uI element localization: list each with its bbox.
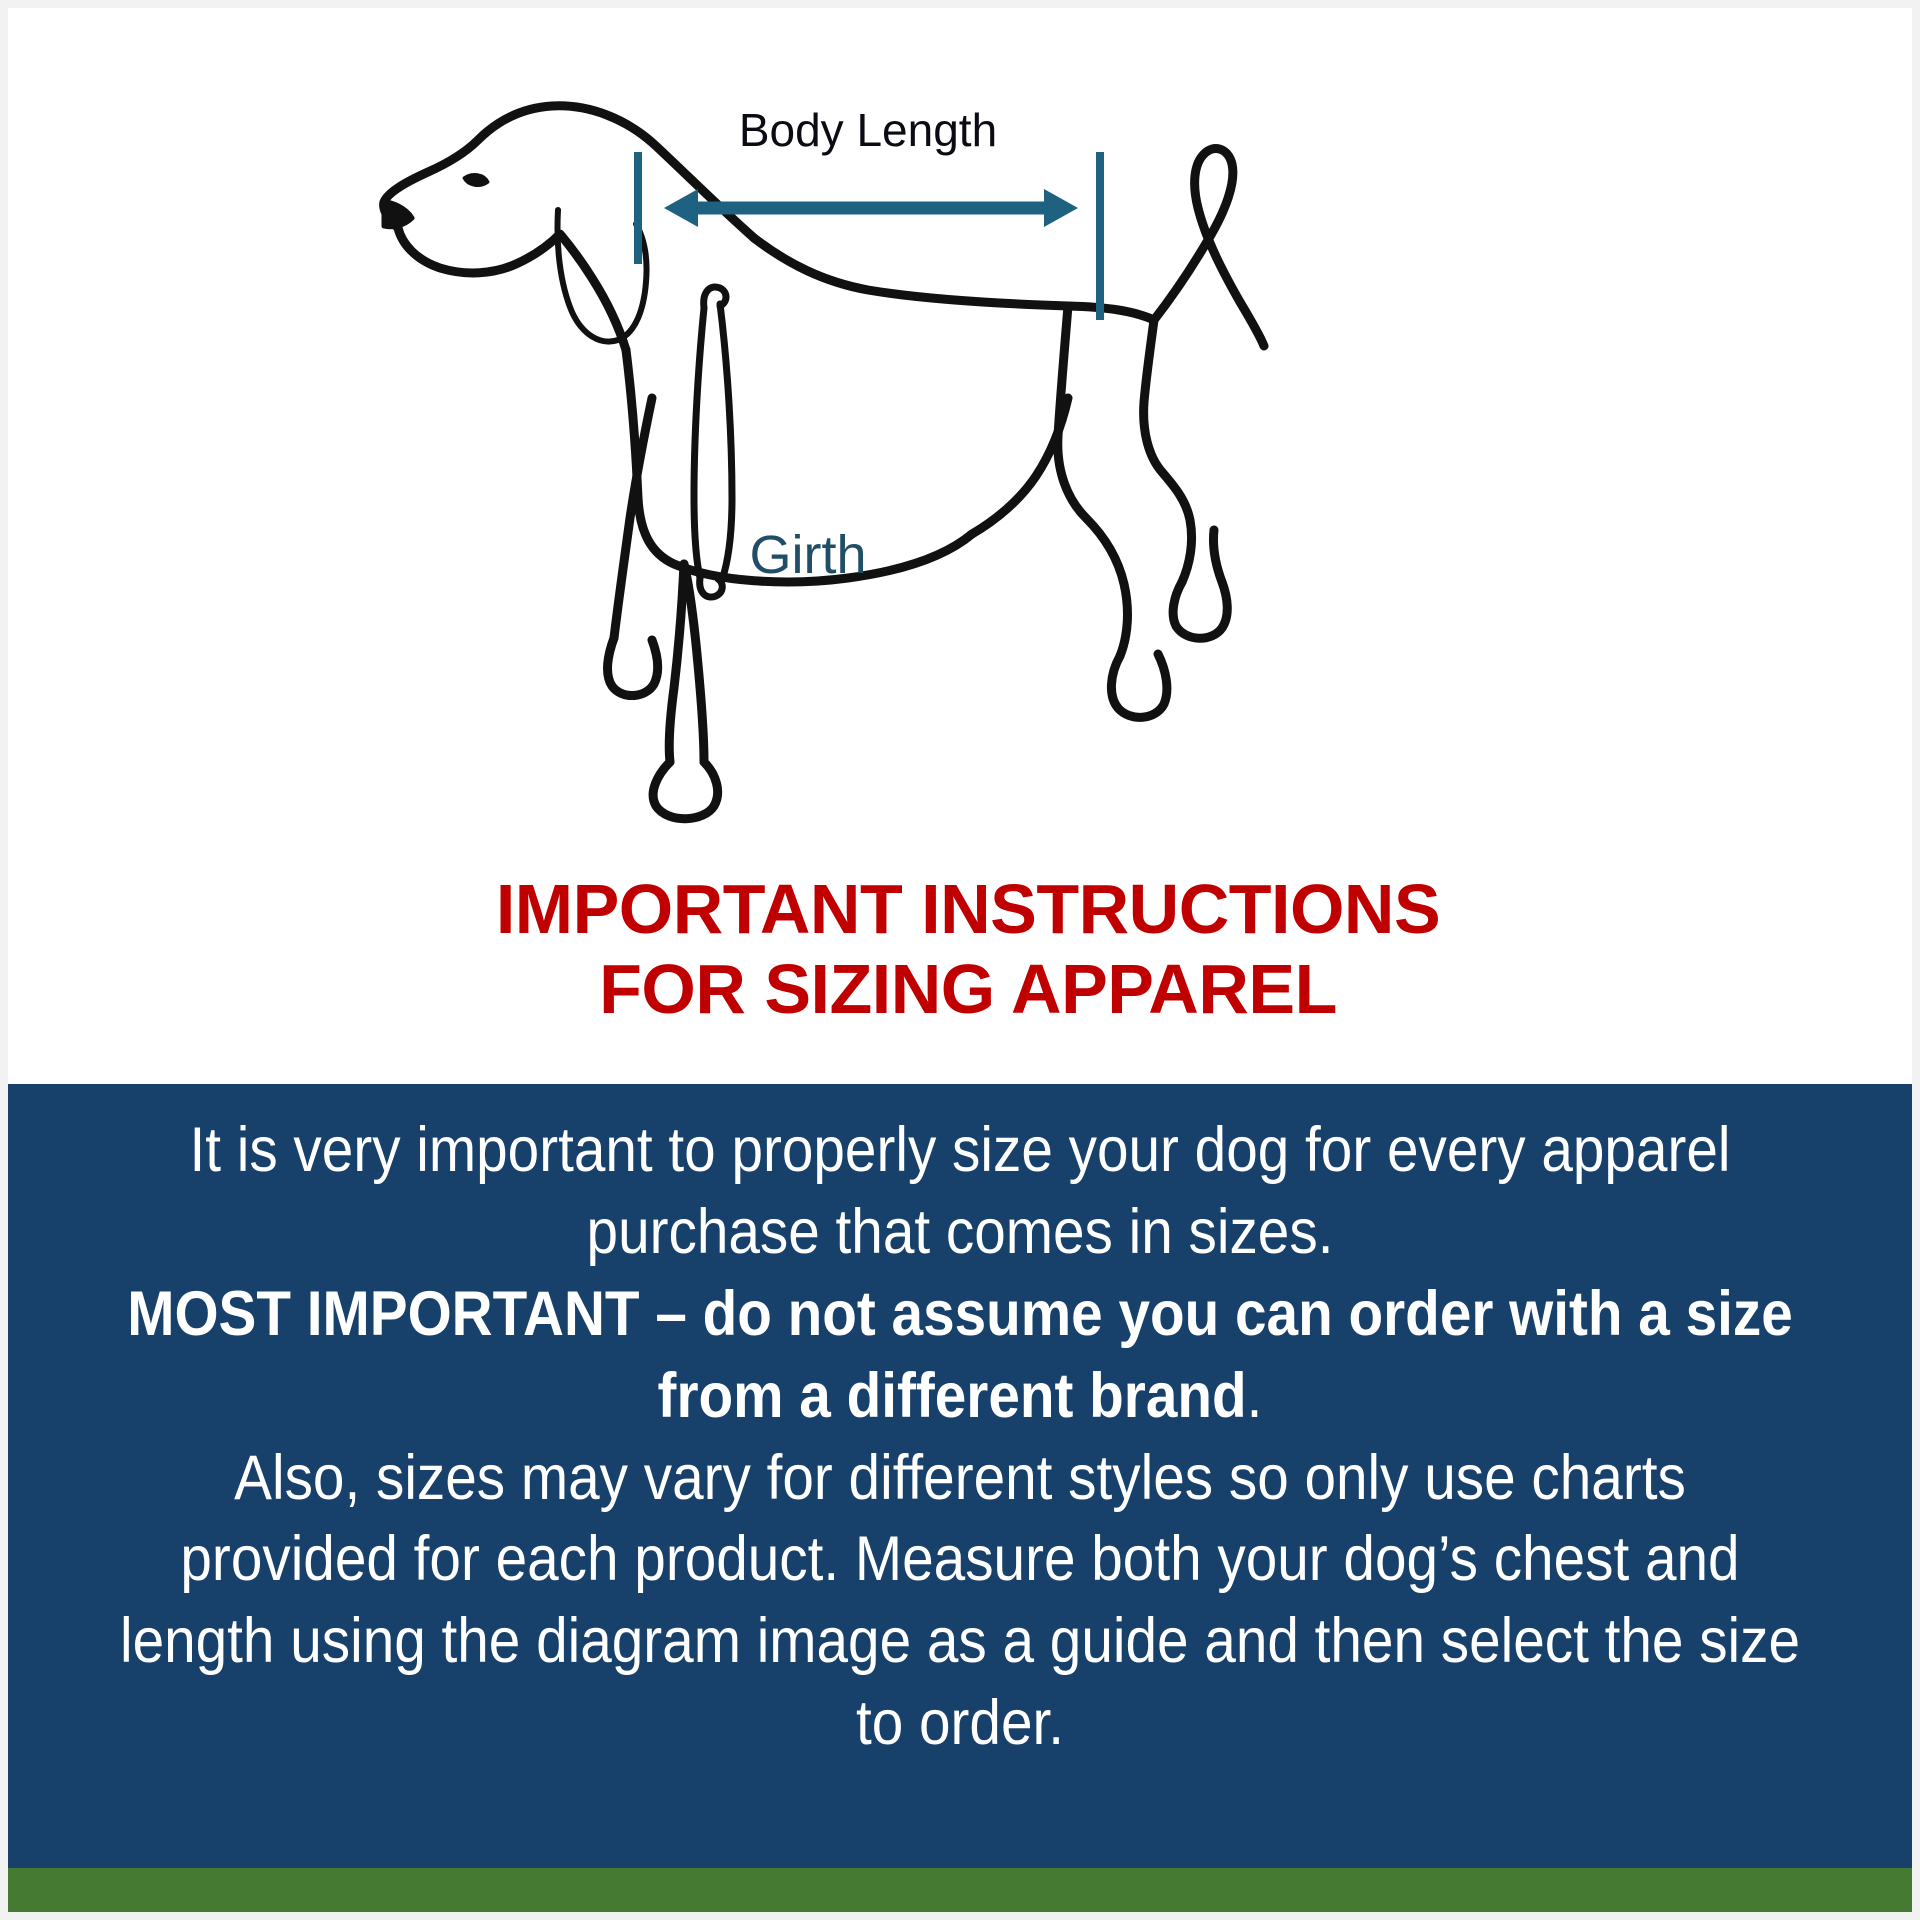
girth-label: Girth bbox=[749, 525, 866, 585]
arrow-right-head-icon bbox=[1044, 189, 1078, 227]
arrow-left-head-icon bbox=[664, 189, 698, 227]
page-title-line-2: FOR SIZING APPAREL bbox=[16, 950, 1920, 1030]
instructions-paragraph-1: It is very important to properly size yo… bbox=[119, 1110, 1800, 1274]
white-panel: Body Length Girth IMPORTANT INSTRUCTIONS… bbox=[8, 8, 1912, 1084]
body-length-label: Body Length bbox=[739, 104, 997, 156]
instructions-paragraph-3: Also, sizes may vary for different style… bbox=[119, 1438, 1800, 1766]
instructions-paragraph-2: MOST IMPORTANT – do not assume you can o… bbox=[119, 1274, 1800, 1438]
dog-measurement-diagram: Body Length Girth bbox=[368, 68, 1308, 828]
instructions-paragraph-2-tail: . bbox=[1247, 1361, 1263, 1431]
diagram-area: Body Length Girth bbox=[8, 8, 1912, 848]
sizing-instructions-graphic: Body Length Girth IMPORTANT INSTRUCTIONS… bbox=[0, 0, 1920, 1920]
instructions-paragraph-2-bold: MOST IMPORTANT – do not assume you can o… bbox=[127, 1279, 1793, 1431]
girth-loop bbox=[694, 287, 732, 597]
page-title-line-1: IMPORTANT INSTRUCTIONS bbox=[16, 870, 1920, 950]
page-title: IMPORTANT INSTRUCTIONS FOR SIZING APPARE… bbox=[16, 870, 1920, 1030]
instructions-band: It is very important to properly size yo… bbox=[8, 1084, 1912, 1868]
footer-accent-bar bbox=[8, 1868, 1912, 1912]
